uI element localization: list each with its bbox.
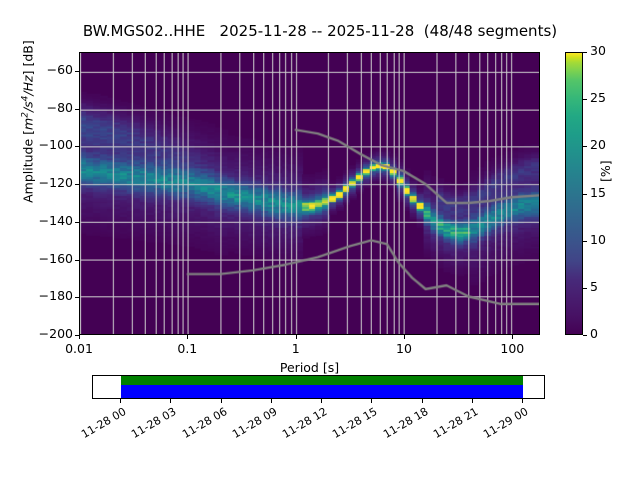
colorbar-tick-label: 5 bbox=[590, 279, 598, 294]
colorbar-tick-mark bbox=[583, 241, 587, 242]
y-axis-tick-mark bbox=[75, 260, 79, 261]
timeline-tick-label: 11-28 15 bbox=[325, 405, 380, 444]
timeline-tick-label: 11-28 00 bbox=[74, 405, 129, 444]
timeline-tick-mark bbox=[221, 399, 222, 403]
data-coverage-timeline bbox=[92, 375, 545, 399]
ppsd-figure: BW.MGS02..HHE 2025-11-28 -- 2025-11-28 (… bbox=[0, 0, 640, 480]
timeline-tick-label: 11-28 09 bbox=[224, 405, 279, 444]
colorbar-tick-mark bbox=[583, 52, 587, 53]
x-axis-label: Period [s] bbox=[79, 360, 540, 375]
figure-title: BW.MGS02..HHE 2025-11-28 -- 2025-11-28 (… bbox=[0, 22, 640, 40]
timeline-tick-mark bbox=[170, 399, 171, 403]
timeline-tick-label: 11-28 06 bbox=[174, 405, 229, 444]
y-axis-tick-mark bbox=[75, 109, 79, 110]
timeline-tick-mark bbox=[371, 399, 372, 403]
colorbar-label: [%] bbox=[598, 142, 613, 182]
y-axis-tick-mark bbox=[75, 146, 79, 147]
timeline-tick-mark bbox=[522, 399, 523, 403]
y-axis-tick-label: −180 bbox=[17, 288, 73, 303]
colorbar-tick-mark bbox=[583, 194, 587, 195]
y-axis-label-text: Amplitude [m2/s4/Hz] [dB] bbox=[21, 40, 36, 203]
colorbar-tick-mark bbox=[583, 146, 587, 147]
timeline-tick-label: 11-29 00 bbox=[476, 405, 531, 444]
colorbar-tick-mark bbox=[583, 288, 587, 289]
x-axis-tick-mark bbox=[404, 335, 405, 339]
colorbar-tick-label: 30 bbox=[590, 43, 606, 58]
y-axis-tick-mark bbox=[75, 297, 79, 298]
colorbar bbox=[565, 52, 583, 335]
x-axis-tick-label: 10 bbox=[374, 341, 434, 356]
x-axis-tick-mark bbox=[79, 335, 80, 339]
y-axis-label: Amplitude [m2/s4/Hz] [dB] bbox=[20, 2, 35, 242]
x-axis-tick-label: 100 bbox=[482, 341, 542, 356]
colorbar-tick-label: 15 bbox=[590, 185, 606, 200]
x-axis-tick-mark bbox=[296, 335, 297, 339]
y-axis-tick-mark bbox=[75, 71, 79, 72]
timeline-tick-label: 11-28 12 bbox=[275, 405, 330, 444]
colorbar-tick-label: 10 bbox=[590, 232, 606, 247]
colorbar-tick-label: 25 bbox=[590, 90, 606, 105]
y-axis-tick-label: −160 bbox=[17, 251, 73, 266]
ppsd-density-heatmap bbox=[80, 53, 539, 334]
x-axis-tick-label: 0.1 bbox=[157, 341, 217, 356]
colorbar-tick-mark bbox=[583, 335, 587, 336]
timeline-tick-mark bbox=[422, 399, 423, 403]
coverage-bar-green bbox=[121, 376, 523, 385]
y-axis-tick-mark bbox=[75, 184, 79, 185]
colorbar-tick-mark bbox=[583, 99, 587, 100]
x-axis-tick-label: 1 bbox=[266, 341, 326, 356]
timeline-tick-mark bbox=[120, 399, 121, 403]
colorbar-tick-label: 0 bbox=[590, 326, 598, 341]
timeline-tick-label: 11-28 21 bbox=[425, 405, 480, 444]
timeline-tick-label: 11-28 03 bbox=[124, 405, 179, 444]
timeline-tick-label: 11-28 18 bbox=[375, 405, 430, 444]
timeline-tick-mark bbox=[321, 399, 322, 403]
x-axis-tick-mark bbox=[187, 335, 188, 339]
ppsd-plot-area bbox=[79, 52, 540, 335]
y-axis-tick-label: −200 bbox=[17, 326, 73, 341]
coverage-bar-blue bbox=[121, 385, 523, 398]
y-axis-tick-mark bbox=[75, 222, 79, 223]
timeline-tick-mark bbox=[472, 399, 473, 403]
x-axis-tick-mark bbox=[512, 335, 513, 339]
timeline-tick-mark bbox=[271, 399, 272, 403]
x-axis-tick-label: 0.01 bbox=[49, 341, 109, 356]
